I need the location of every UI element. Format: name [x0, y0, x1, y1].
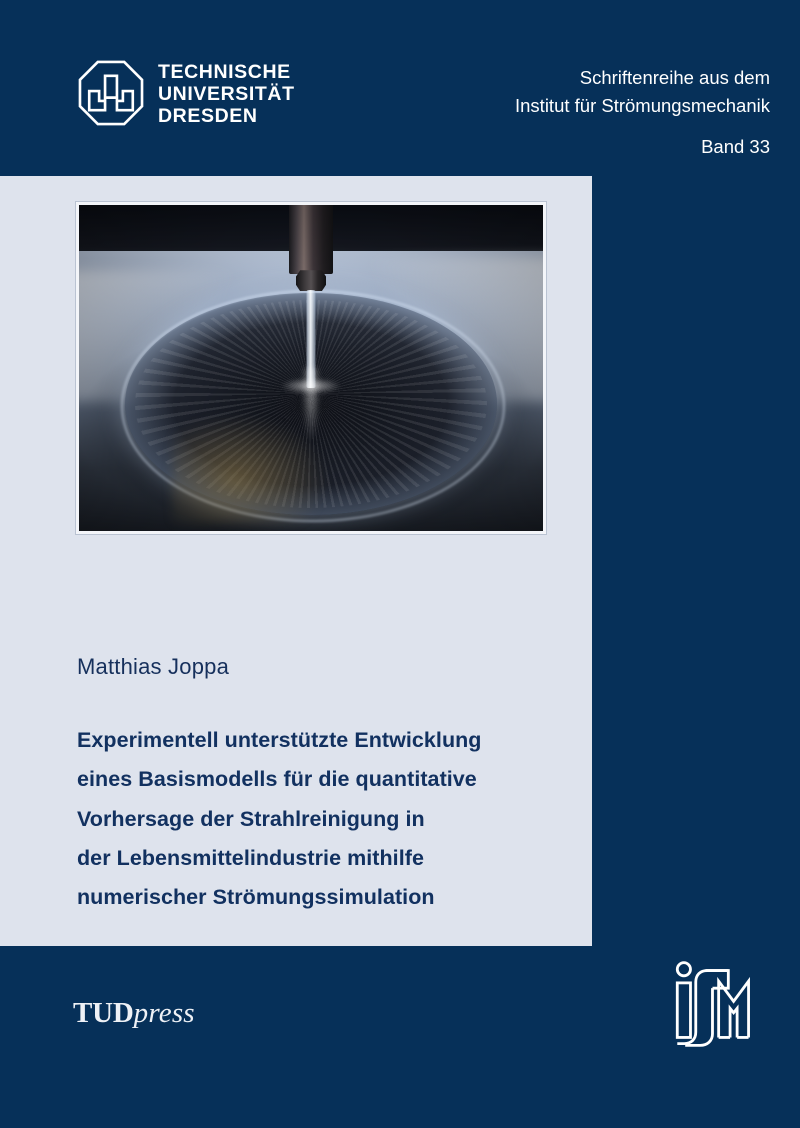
tu-dresden-octagon-logo-icon — [78, 60, 144, 126]
tu-dresden-wordmark: TECHNISCHE UNIVERSITÄT DRESDEN — [158, 60, 295, 127]
cover-photo-frame — [76, 202, 546, 534]
publisher-italic-part: press — [134, 997, 195, 1029]
ism-monogram-logo-icon — [672, 958, 760, 1050]
title-line: der Lebensmittelindustrie mithilfe — [77, 839, 577, 878]
title-line: eines Basismodells für die quantitative — [77, 760, 577, 799]
tud-line-1: TECHNISCHE — [158, 61, 295, 83]
title-line: Experimentell unterstützte Entwicklung — [77, 721, 577, 760]
series-line-1: Schriftenreihe aus dem — [515, 64, 770, 92]
content-panel: Matthias Joppa Experimentell unterstützt… — [0, 176, 592, 946]
series-info: Schriftenreihe aus dem Institut für Strö… — [515, 64, 770, 161]
cover-header: TECHNISCHE UNIVERSITÄT DRESDEN Schriften… — [0, 0, 800, 176]
tud-line-2: UNIVERSITÄT — [158, 83, 295, 105]
photo-vignette — [79, 205, 543, 531]
book-title: Experimentell unterstützte Entwicklung e… — [77, 721, 577, 918]
tud-line-3: DRESDEN — [158, 105, 295, 127]
series-volume: Band 33 — [515, 133, 770, 161]
series-line-2: Institut für Strömungsmechanik — [515, 92, 770, 120]
cover-photo — [79, 205, 543, 531]
publisher-logo: TUDpress — [73, 999, 195, 1028]
title-line: Vorhersage der Strahlreinigung in — [77, 800, 577, 839]
book-cover: TECHNISCHE UNIVERSITÄT DRESDEN Schriften… — [0, 0, 800, 1128]
tu-dresden-logo-block: TECHNISCHE UNIVERSITÄT DRESDEN — [78, 60, 295, 127]
publisher-bold-part: TUD — [73, 997, 134, 1029]
author-name: Matthias Joppa — [77, 654, 229, 680]
title-line: numerischer Strömungssimulation — [77, 878, 577, 917]
